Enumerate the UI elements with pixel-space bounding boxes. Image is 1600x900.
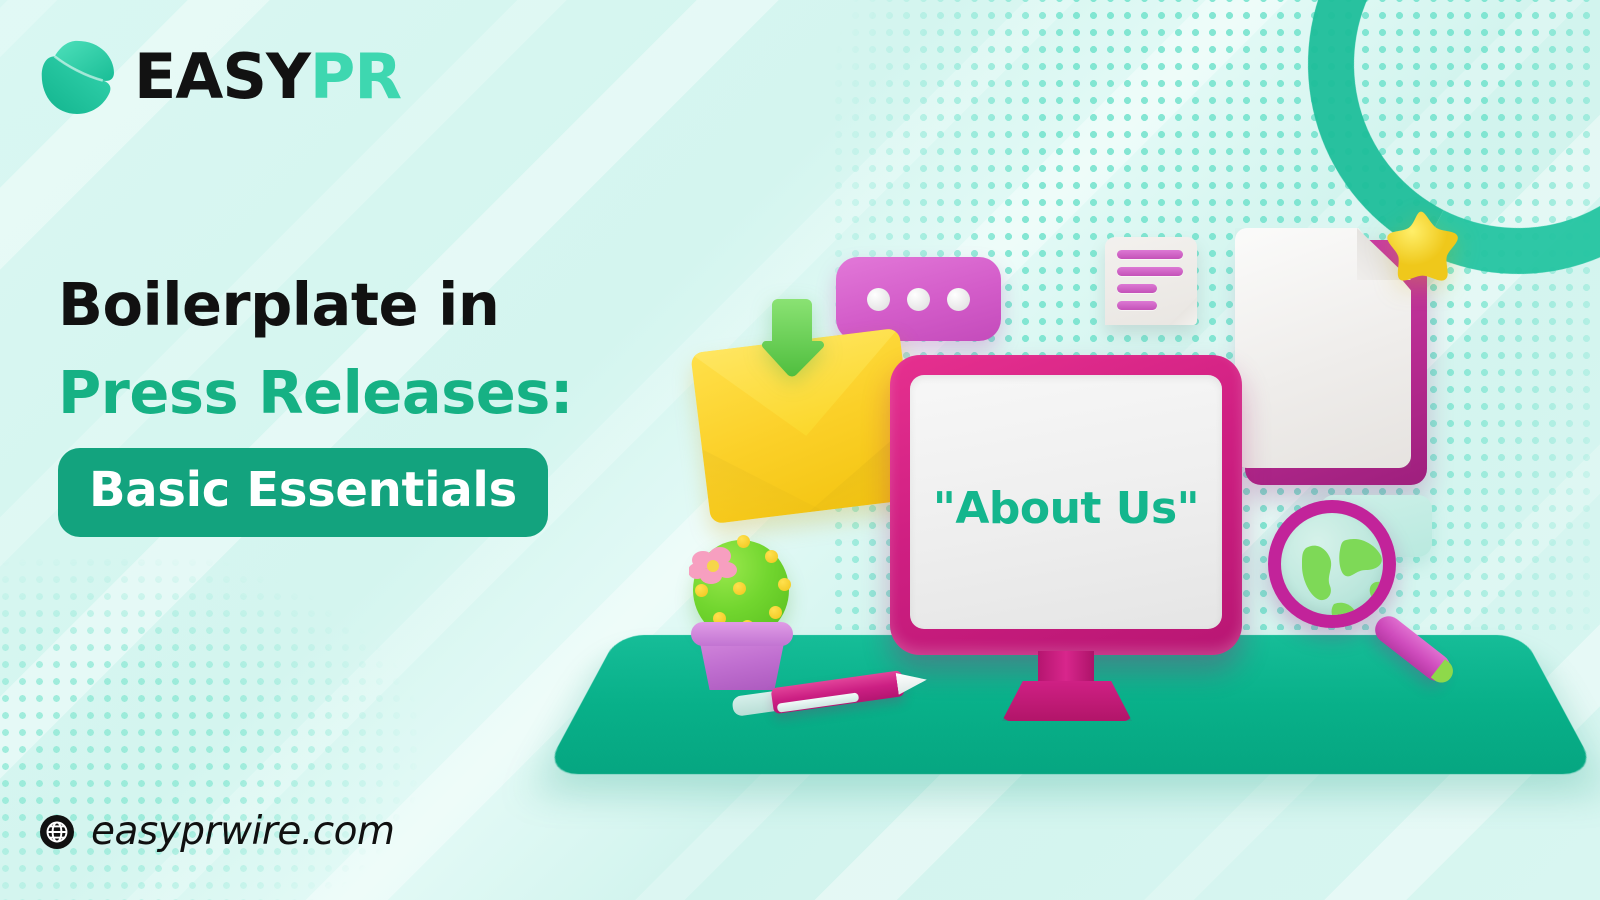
logo-text-easy: EASY	[134, 40, 310, 113]
cactus-plant	[675, 540, 805, 700]
brand-wordmark: EASYPR	[134, 46, 401, 108]
leaf-circle-logo-icon	[34, 34, 120, 120]
chat-dot	[867, 288, 890, 311]
small-document-icon	[1105, 237, 1197, 325]
hero-illustration: "About Us"	[600, 195, 1600, 855]
chat-bubble	[836, 257, 1001, 341]
computer-monitor: "About Us"	[890, 355, 1242, 655]
star-icon	[1382, 207, 1460, 285]
logo-text-pr: PR	[310, 40, 401, 113]
website-url-text: easyprwire.com	[91, 812, 395, 851]
magnifier-globe-icon	[1250, 490, 1465, 690]
headline-pill-badge: Basic Essentials	[58, 448, 548, 536]
footer-website[interactable]: easyprwire.com	[40, 812, 395, 851]
brand-logo[interactable]: EASYPR	[34, 34, 401, 120]
magnifier-lens	[1268, 500, 1396, 628]
monitor-bezel: "About Us"	[890, 355, 1242, 655]
monitor-neck	[1038, 651, 1094, 683]
chat-dot	[947, 288, 970, 311]
banner-canvas: EASYPR Boilerplate in Press Releases: Ba…	[0, 0, 1600, 900]
doc-line	[1117, 250, 1183, 259]
cactus-pot-rim	[691, 622, 793, 646]
monitor-base	[1002, 681, 1132, 721]
cactus-spine	[778, 578, 791, 591]
magnifier-handle	[1370, 611, 1456, 686]
cactus-spine	[769, 606, 782, 619]
doc-line	[1117, 284, 1157, 293]
cactus-flower	[689, 546, 743, 588]
screen-text-about-us: "About Us"	[933, 483, 1199, 534]
doc-line	[1117, 301, 1157, 310]
doc-line	[1117, 267, 1183, 276]
globe-icon	[40, 815, 74, 849]
download-arrow-icon	[760, 295, 824, 381]
monitor-screen: "About Us"	[910, 375, 1222, 629]
chat-dot	[907, 288, 930, 311]
cactus-spine	[765, 550, 778, 563]
